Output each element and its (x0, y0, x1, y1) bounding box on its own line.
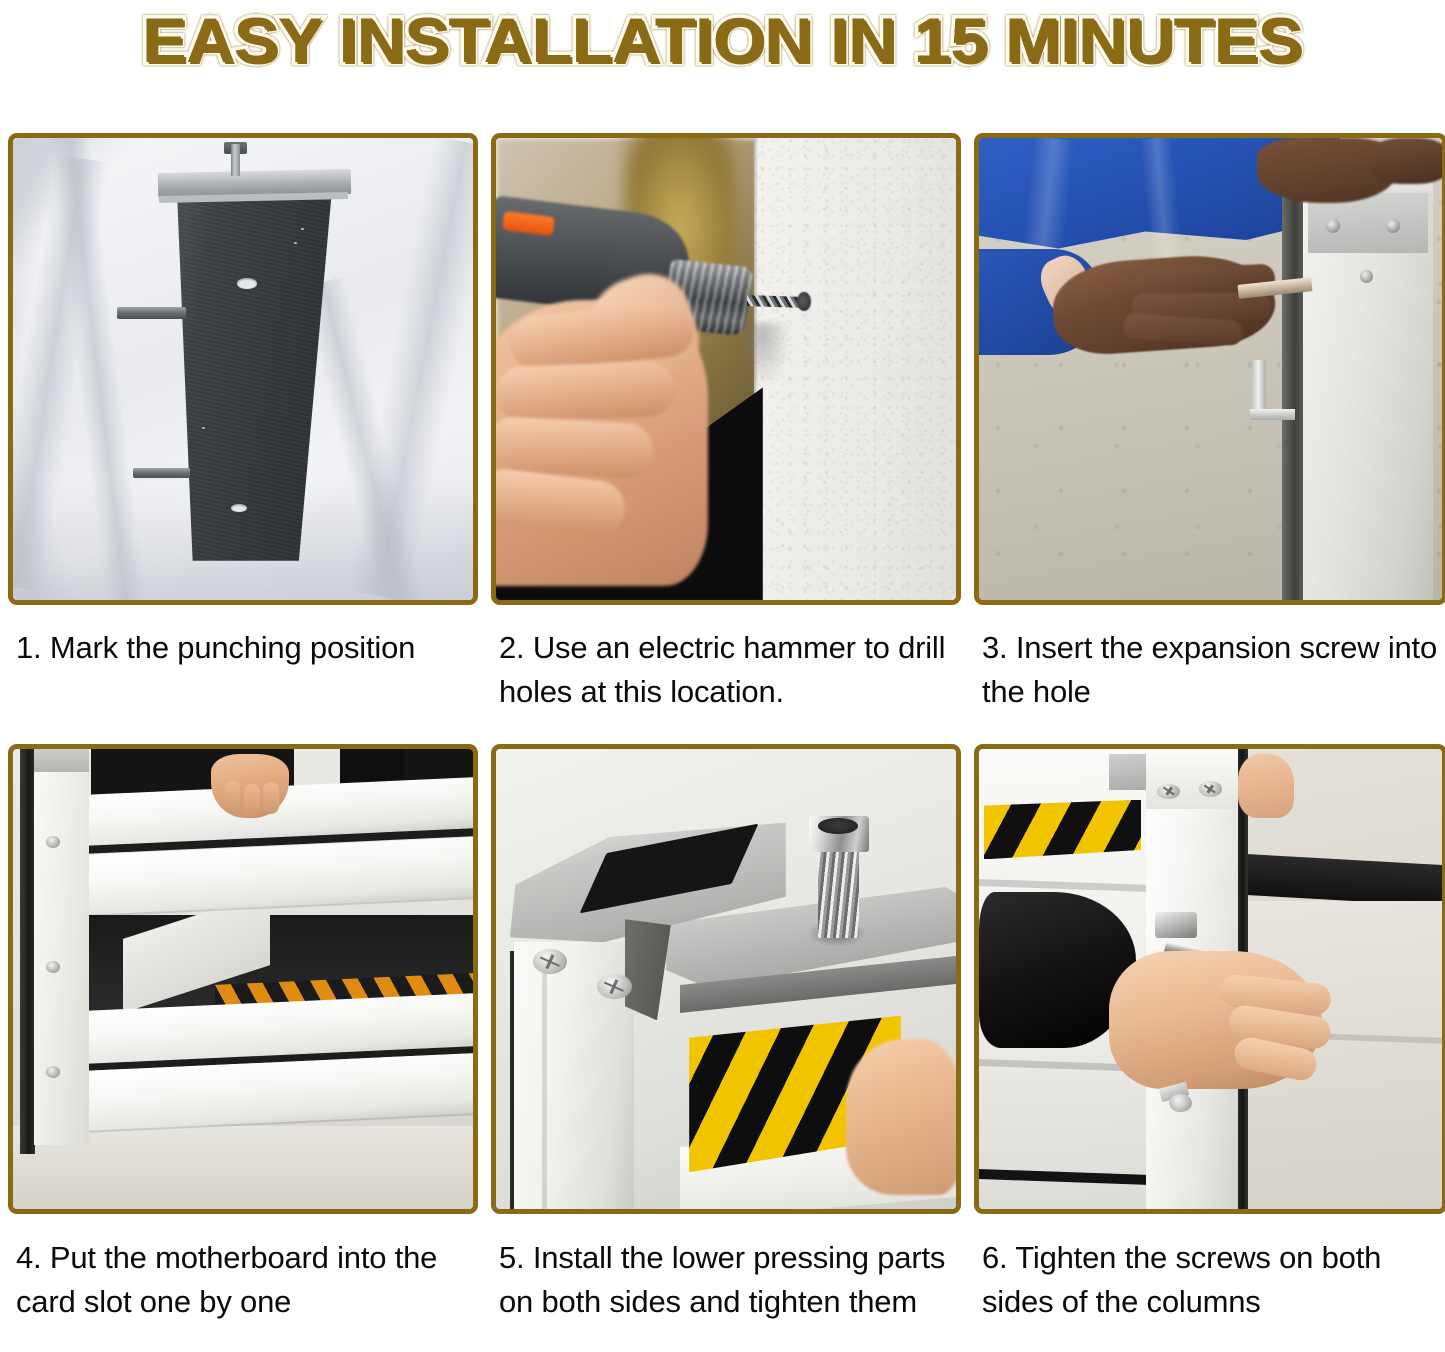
step-1-caption: 1. Mark the punching position (8, 605, 478, 670)
step-6-photo-frame (974, 744, 1445, 1214)
page-title: EASY INSTALLATION IN 15 MINUTES (143, 5, 1303, 77)
plate-screw (1360, 270, 1373, 283)
phillips-screw (533, 949, 568, 974)
hazard-stripe-yellow-black (984, 800, 1141, 860)
surface-mark (202, 427, 205, 429)
steps-grid-row-2: 4. Put the motherboard into the card slo… (8, 744, 1440, 1324)
bolt-thread (818, 850, 859, 937)
step-6-photo-tighten-column-screws (979, 749, 1442, 1209)
step-5-caption: 5. Install the lower pressing parts on b… (491, 1214, 961, 1324)
post-groove (542, 951, 547, 1209)
step-5-photo-lower-pressing-parts (496, 749, 956, 1209)
installation-infographic: EASY INSTALLATION IN 15 MINUTES (0, 0, 1445, 1352)
step-3-photo-insert-expansion-screw (979, 138, 1442, 600)
title-banner: EASY INSTALLATION IN 15 MINUTES (0, 0, 1445, 82)
step-6-caption: 6. Tighten the screws on both sides of t… (974, 1214, 1445, 1324)
step-3-photo-frame (974, 133, 1445, 605)
drill-dust (744, 323, 790, 388)
step-1-photo-mark-punching-position (13, 138, 473, 600)
finger (225, 781, 241, 813)
step-4-photo-insert-boards (13, 749, 473, 1209)
step-4-caption: 4. Put the motherboard into the card slo… (8, 1214, 478, 1324)
phillips-screw (597, 974, 632, 999)
hex-key (1252, 360, 1266, 420)
step-3-caption: 3. Insert the expansion screw into the h… (974, 605, 1445, 714)
column-post (34, 749, 89, 1145)
post-screw (46, 961, 60, 973)
step-4-photo-frame (8, 744, 478, 1214)
mounting-hole-upper (237, 278, 256, 288)
step-5-photo-frame (491, 744, 961, 1214)
protruding-bolt-upper (117, 307, 186, 319)
plate-screw (1326, 219, 1340, 233)
thumb (846, 1039, 956, 1195)
step-card-6: 6. Tighten the screws on both sides of t… (974, 744, 1445, 1324)
post-cap (34, 749, 89, 772)
step-2-photo-frame (491, 133, 961, 605)
step-2-caption: 2. Use an electric hammer to drill holes… (491, 605, 961, 714)
step-2-photo-drill-holes (496, 138, 956, 600)
second-hand (1238, 754, 1294, 818)
step-card-3: 3. Insert the expansion screw into the h… (974, 133, 1445, 714)
column-top-screw (1199, 781, 1222, 797)
column-top-plate (1146, 749, 1239, 809)
column-dark-edge (1282, 156, 1303, 600)
step-card-5: 5. Install the lower pressing parts on b… (491, 744, 961, 1324)
bolt-hex-socket (818, 818, 858, 834)
step-card-4: 4. Put the motherboard into the card slo… (8, 744, 478, 1324)
protruding-bolt-lower (133, 468, 191, 477)
post-dark-edge (20, 749, 35, 1154)
mounting-hole-lower (231, 504, 247, 512)
drill-bit-tip (797, 292, 811, 310)
step-1-photo-frame (8, 133, 478, 605)
second-hand-fingers (1368, 138, 1442, 184)
finger (263, 782, 279, 814)
surface-mark (294, 242, 297, 244)
finger (244, 784, 260, 816)
finger (496, 361, 676, 423)
step-card-1: 1. Mark the punching position (8, 133, 478, 714)
plate-screw (1386, 219, 1400, 233)
step-card-2: 2. Use an electric hammer to drill holes… (491, 133, 961, 714)
screwdriver-tip (1155, 912, 1197, 937)
top-threaded-rod (231, 144, 240, 176)
steps-grid: 1. Mark the punching position (8, 133, 1440, 714)
